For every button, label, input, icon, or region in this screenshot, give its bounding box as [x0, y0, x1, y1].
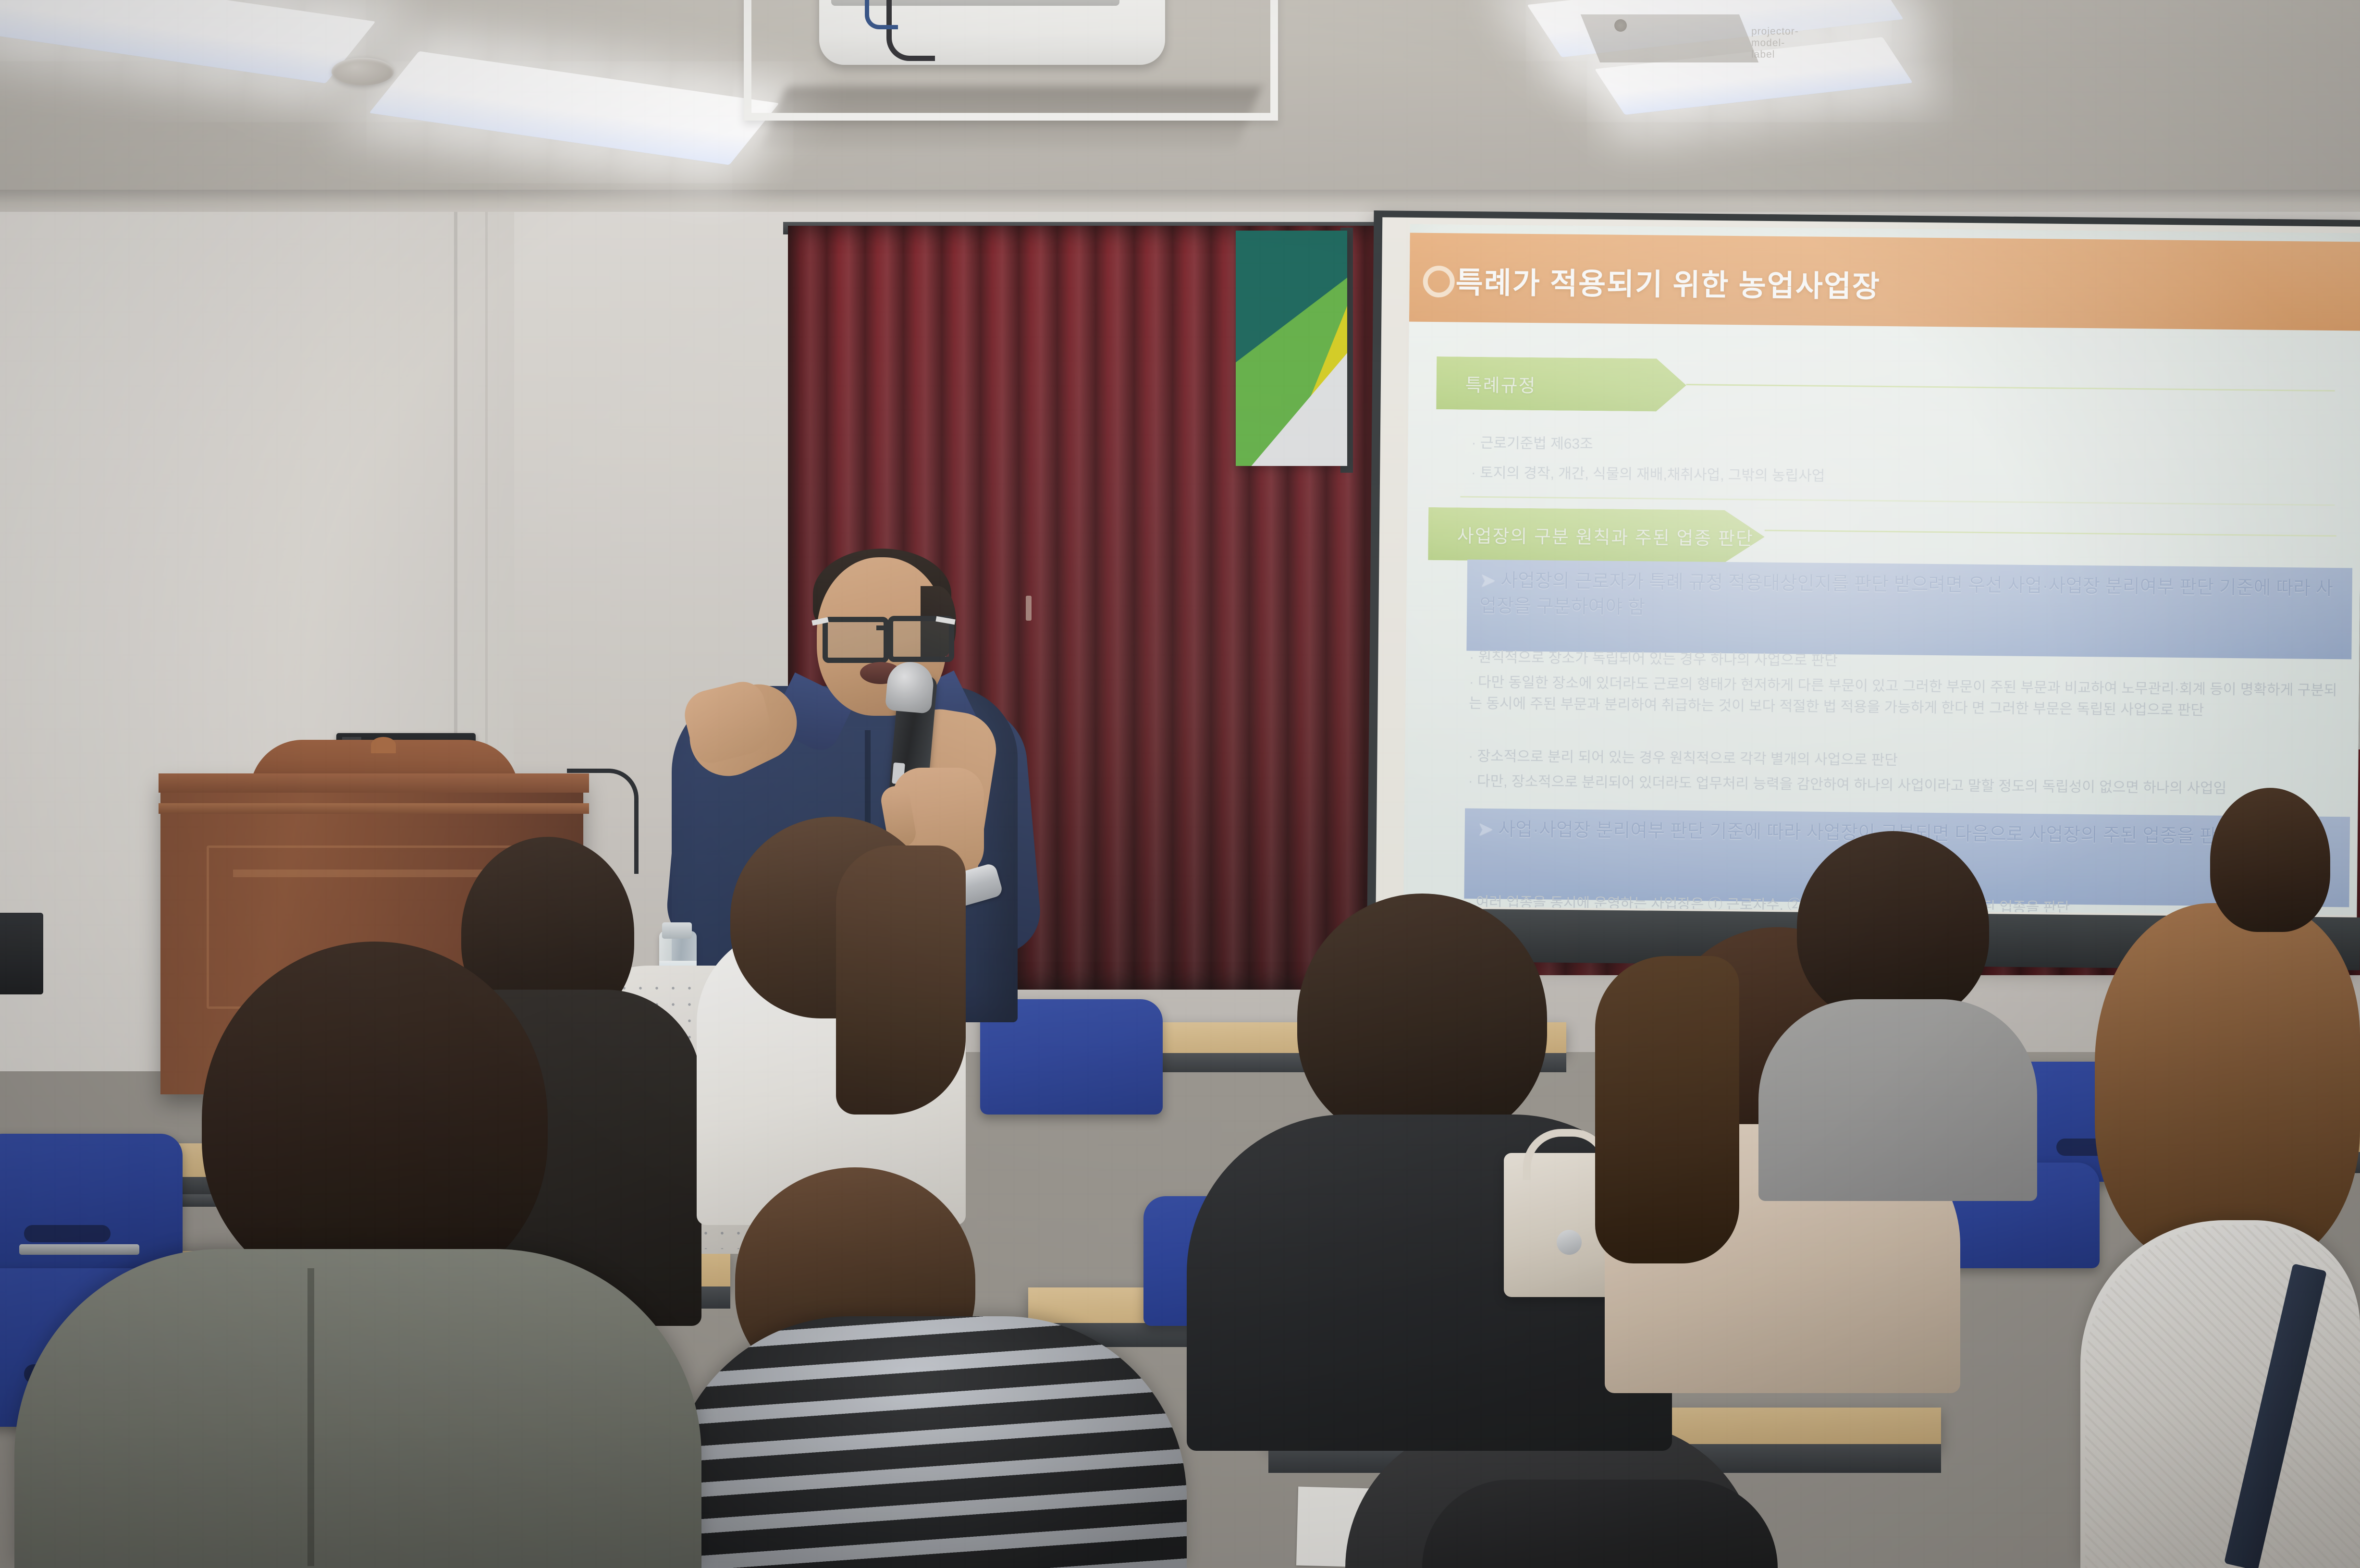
audience-member-7-head: [1297, 894, 1547, 1143]
audience-member-1-seam: [307, 1268, 314, 1566]
projector-model-label: projector-model-label: [1751, 26, 1799, 61]
audience-member-1-head: [202, 942, 548, 1297]
wall-banner: [1236, 231, 1347, 466]
projection-screen: 특례규정 · 근로기준법 제63조 · 토지의 경작, 개간, 식물의 재배,채…: [1403, 224, 2360, 916]
audience-member-9-body: [1758, 999, 2037, 1201]
podium-finial-icon: [371, 737, 396, 753]
audience-member-10-head: [2095, 903, 2360, 1268]
podium-moulding: [159, 803, 589, 814]
audience-member-8-hair: [1595, 956, 1739, 1263]
chair[interactable]: [0, 1134, 183, 1278]
audience-member-4-hair: [836, 845, 966, 1115]
screen-light-glow: [1403, 224, 2360, 916]
water-bottle-cap: [662, 922, 692, 939]
eyeglasses-bridge-icon: [876, 625, 891, 630]
lecture-hall-photo: projector-model-label 특례규정 ·: [0, 0, 2360, 1568]
wall-speaker: [0, 913, 43, 994]
eyeglasses-icon: [823, 617, 889, 663]
audience-member-9-head: [1797, 831, 1989, 1023]
chair-handle-slot: [24, 1225, 111, 1242]
ceiling-round-fixture: [332, 58, 394, 86]
audience-member-11-body: [1422, 1480, 1778, 1568]
audience-member-5-shading: [668, 1316, 1187, 1568]
audience-member-1-body: [14, 1249, 701, 1568]
audience-member-11-head: [2210, 788, 2330, 932]
ceiling-edge-trim: [0, 190, 2360, 212]
chair-leg: [19, 1244, 139, 1255]
podium-top-ledge: [159, 773, 589, 793]
podium-panel-groove: [233, 870, 512, 877]
handbag-clasp-icon: [1557, 1230, 1582, 1255]
projector-mount-frame: [744, 0, 1278, 121]
curtain-clip-icon: [1026, 596, 1032, 621]
ceiling-sensor-icon: [1614, 19, 1627, 32]
ceiling-vent: [1581, 14, 1758, 62]
